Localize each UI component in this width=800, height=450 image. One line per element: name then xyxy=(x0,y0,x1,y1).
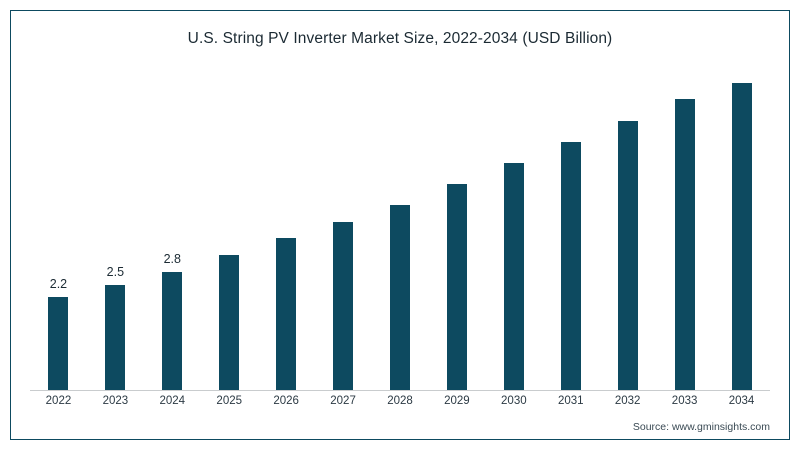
x-tick-label: 2026 xyxy=(258,395,314,407)
x-tick-label: 2034 xyxy=(714,395,770,407)
chart-page: U.S. String PV Inverter Market Size, 202… xyxy=(0,0,800,450)
x-axis-tick-labels: 2022202320242025202620272028202920302031… xyxy=(30,395,770,407)
bar xyxy=(675,99,695,390)
bar-column xyxy=(486,70,542,390)
bar xyxy=(390,205,410,390)
bar xyxy=(504,163,524,390)
bar-column: 2.5 xyxy=(87,70,143,390)
source-caption: Source: www.gminsights.com xyxy=(633,421,770,433)
bar-column xyxy=(201,70,257,390)
bar-column xyxy=(429,70,485,390)
bar-value-label: 2.5 xyxy=(87,265,143,279)
bar xyxy=(162,272,182,390)
x-tick-label: 2023 xyxy=(87,395,143,407)
bar-column xyxy=(543,70,599,390)
x-tick-label: 2028 xyxy=(372,395,428,407)
x-tick-label: 2032 xyxy=(600,395,656,407)
bar-column xyxy=(372,70,428,390)
bar xyxy=(333,222,353,390)
bar-series: 2.22.52.8 xyxy=(30,70,770,390)
bar xyxy=(276,238,296,390)
bar-column xyxy=(315,70,371,390)
bar-column xyxy=(258,70,314,390)
x-tick-label: 2025 xyxy=(201,395,257,407)
x-tick-label: 2027 xyxy=(315,395,371,407)
bar xyxy=(561,142,581,390)
x-axis-line xyxy=(30,390,770,391)
bar xyxy=(219,255,239,390)
bar xyxy=(48,297,68,390)
x-tick-label: 2031 xyxy=(543,395,599,407)
x-tick-label: 2030 xyxy=(486,395,542,407)
x-tick-label: 2024 xyxy=(144,395,200,407)
page-title: U.S. String PV Inverter Market Size, 202… xyxy=(0,30,800,48)
plot-area: 2.22.52.8 xyxy=(30,70,770,390)
bar xyxy=(105,285,125,390)
bar-value-label: 2.8 xyxy=(144,252,200,266)
bar-column: 2.2 xyxy=(30,70,86,390)
bar-column xyxy=(657,70,713,390)
x-tick-label: 2022 xyxy=(30,395,86,407)
bar-column xyxy=(600,70,656,390)
x-tick-label: 2029 xyxy=(429,395,485,407)
bar xyxy=(447,184,467,390)
bar-column xyxy=(714,70,770,390)
bar xyxy=(732,83,752,390)
bar-value-label: 2.2 xyxy=(30,277,86,291)
bar xyxy=(618,121,638,390)
bar-column: 2.8 xyxy=(144,70,200,390)
x-tick-label: 2033 xyxy=(657,395,713,407)
